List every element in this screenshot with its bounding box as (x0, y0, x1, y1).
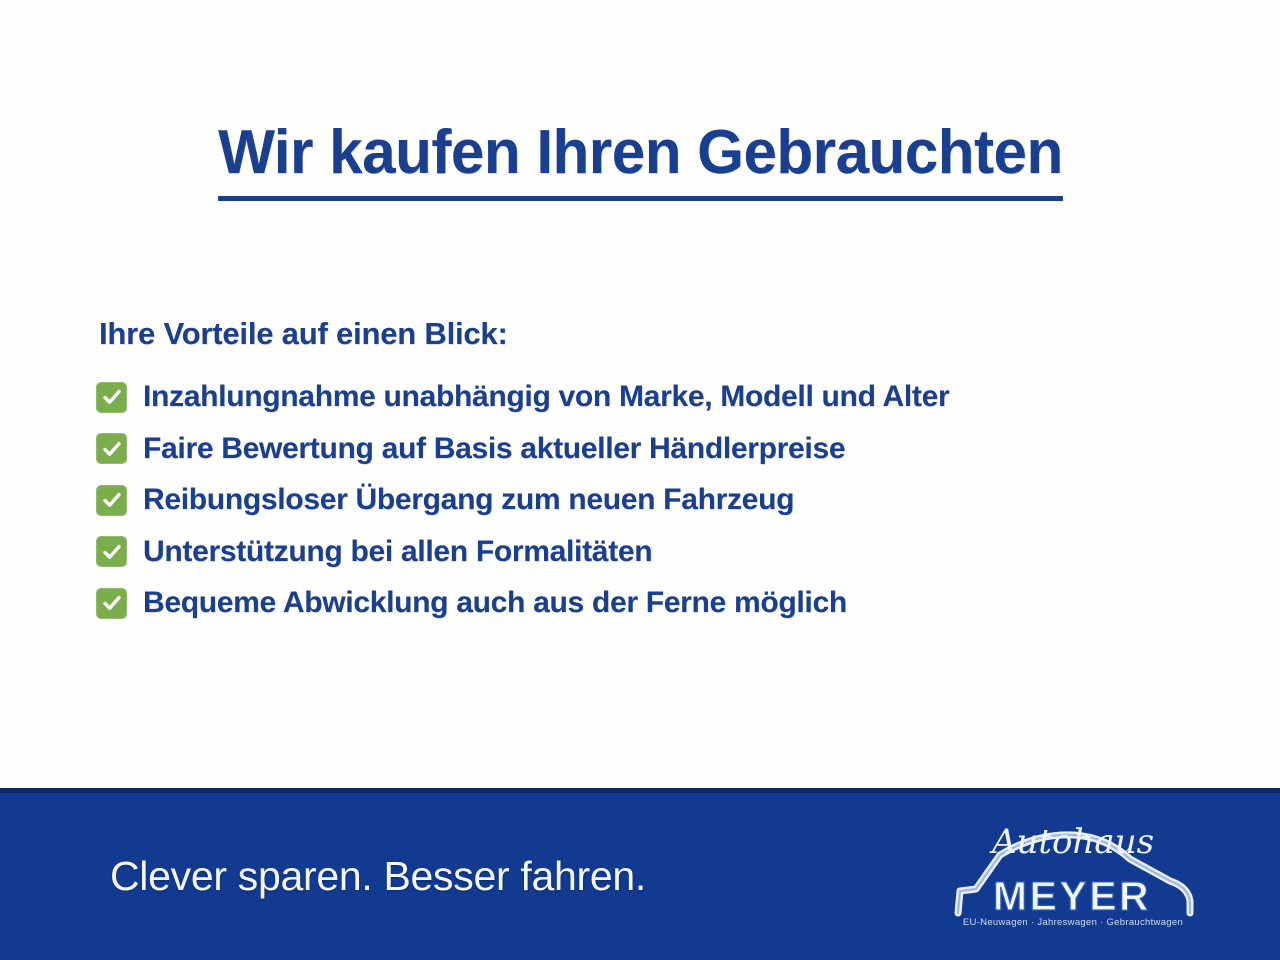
benefit-label: Inzahlungnahme unabhängig von Marke, Mod… (143, 380, 949, 415)
benefit-label: Unterstützung bei allen Formalitäten (143, 535, 652, 570)
list-item: Bequeme Abwicklung auch aus der Ferne mö… (96, 586, 1240, 621)
list-item: Faire Bewertung auf Basis aktueller Händ… (96, 432, 1240, 467)
benefits-list: Inzahlungnahme unabhängig von Marke, Mod… (96, 380, 1240, 621)
title-area: Wir kaufen Ihren Gebrauchten (0, 0, 1280, 242)
green-check-icon (96, 536, 127, 567)
logo-tagline: EU-Neuwagen · Jahreswagen · Gebrauchtwag… (956, 917, 1190, 928)
green-check-icon (96, 588, 127, 619)
logo-script-name: Autohaus (989, 822, 1154, 862)
green-check-icon (96, 485, 127, 516)
list-item: Inzahlungnahme unabhängig von Marke, Mod… (96, 380, 1240, 415)
poster-root: Wir kaufen Ihren Gebrauchten Ihre Vortei… (0, 0, 1280, 960)
green-check-icon (96, 382, 127, 413)
logo-brand-name: MEYER (993, 873, 1151, 919)
page-title: Wir kaufen Ihren Gebrauchten (218, 120, 1063, 201)
list-item: Reibungsloser Übergang zum neuen Fahrzeu… (96, 483, 1240, 518)
green-check-icon (96, 433, 127, 464)
list-item: Unterstützung bei allen Formalitäten (96, 535, 1240, 570)
benefit-label: Reibungsloser Übergang zum neuen Fahrzeu… (143, 483, 794, 518)
benefits-heading: Ihre Vorteile auf einen Blick: (99, 316, 1240, 352)
dealer-logo: Autohaus MEYER EU-Neuwagen · Jahreswagen… (948, 809, 1198, 939)
footer-slogan: Clever sparen. Besser fahren. (110, 853, 646, 900)
benefits-section: Ihre Vorteile auf einen Blick: Inzahlung… (0, 242, 1280, 788)
benefit-label: Faire Bewertung auf Basis aktueller Händ… (143, 432, 845, 467)
footer-bar: Clever sparen. Besser fahren. Autohaus M… (0, 788, 1280, 960)
benefit-label: Bequeme Abwicklung auch aus der Ferne mö… (143, 586, 847, 621)
